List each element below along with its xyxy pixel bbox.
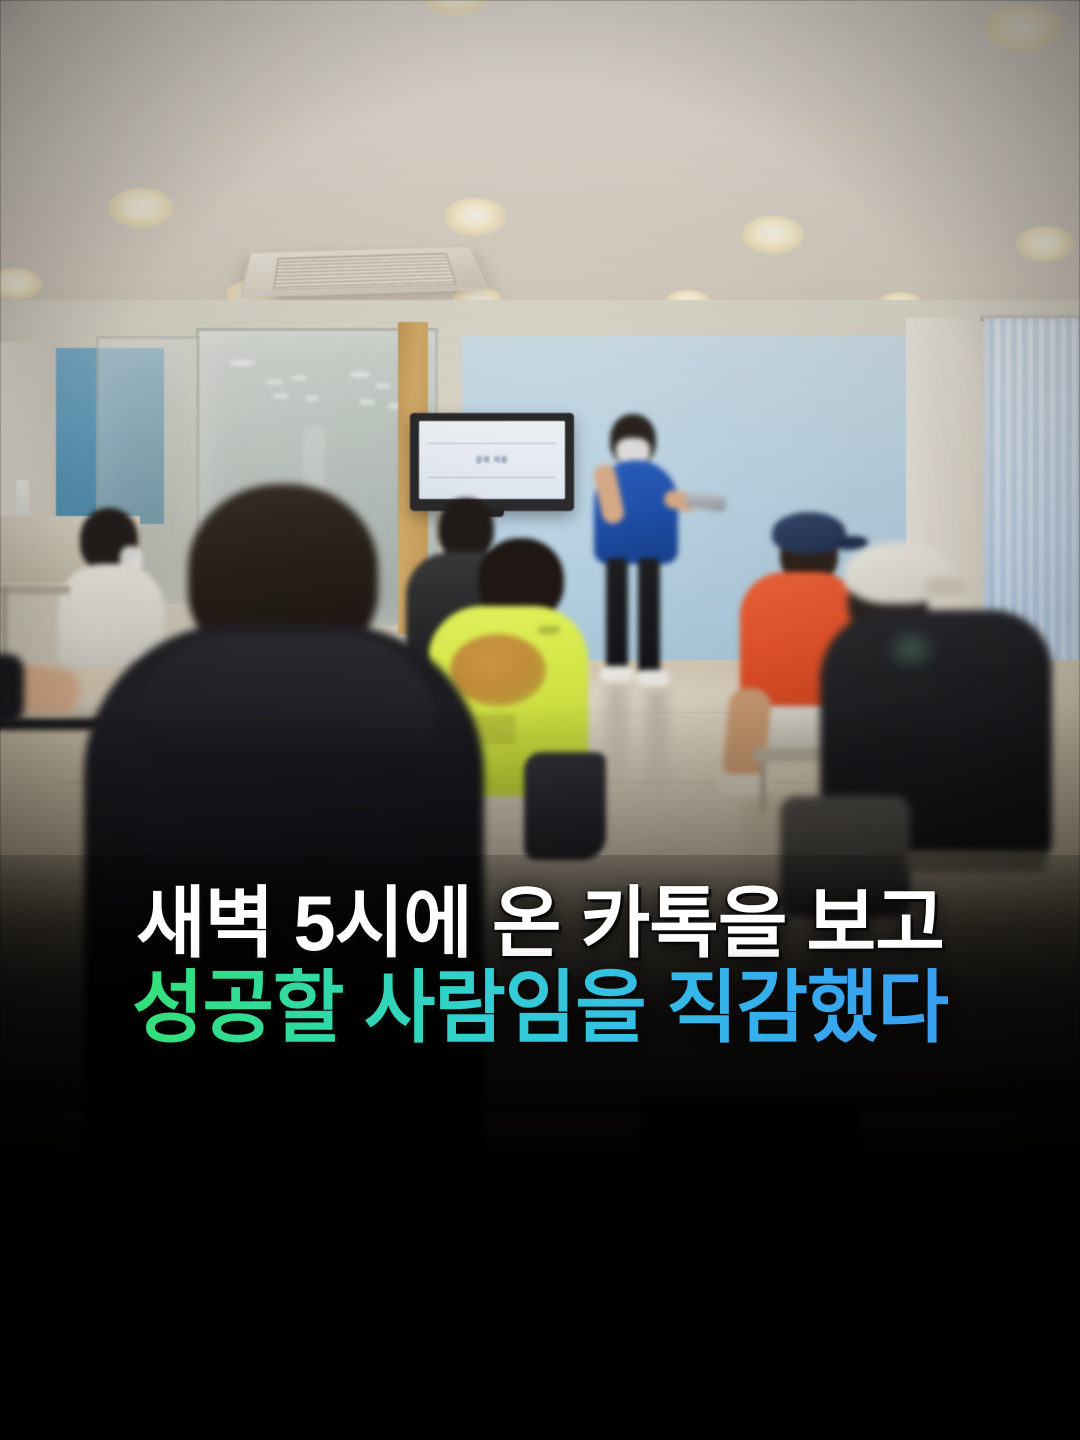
caption-line-2: 성공할 사람임을 직감했다	[16, 968, 1064, 1048]
room-scene-photo: 강의 자료	[0, 0, 1080, 1440]
caption-block: 새벽 5시에 온 카톡을 보고 성공할 사람임을 직감했다	[0, 884, 1080, 1048]
color-grade-layer	[0, 0, 1080, 1440]
video-frame: 강의 자료	[0, 0, 1080, 1440]
caption-line-1: 새벽 5시에 온 카톡을 보고	[16, 884, 1064, 962]
